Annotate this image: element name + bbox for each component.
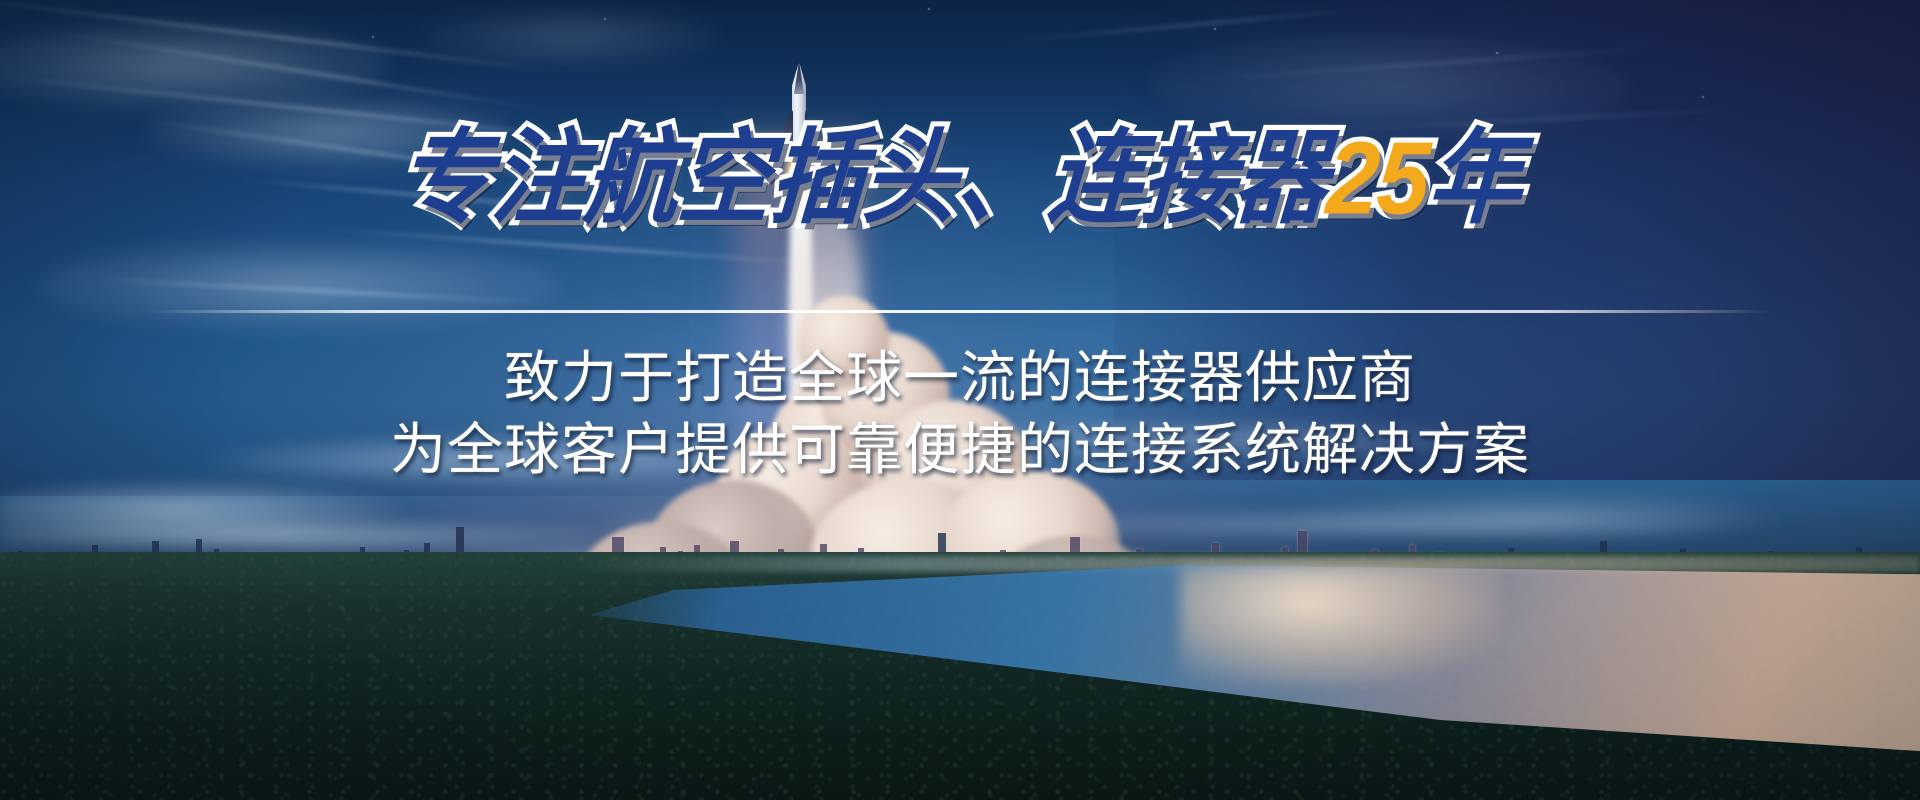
banner-subtitle-line-2: 为全球客户提供可靠便捷的连接系统解决方案 xyxy=(0,420,1920,480)
headline-segment-years-unit: 年 xyxy=(1425,127,1524,230)
banner-copy: 专注航空插头、连接器25年 致力于打造全球一流的连接器供应商 为全球客户提供可靠… xyxy=(0,0,1920,800)
headline-segment-years-number: 25 xyxy=(1324,127,1431,230)
headline-divider xyxy=(150,310,1770,313)
hero-banner: 专注航空插头、连接器25年 致力于打造全球一流的连接器供应商 为全球客户提供可靠… xyxy=(0,0,1920,800)
banner-headline: 专注航空插头、连接器25年 xyxy=(0,127,1920,230)
headline-segment-1: 专注航空插头、连接器 xyxy=(396,127,1331,230)
banner-subtitle-line-1: 致力于打造全球一流的连接器供应商 xyxy=(0,348,1920,408)
